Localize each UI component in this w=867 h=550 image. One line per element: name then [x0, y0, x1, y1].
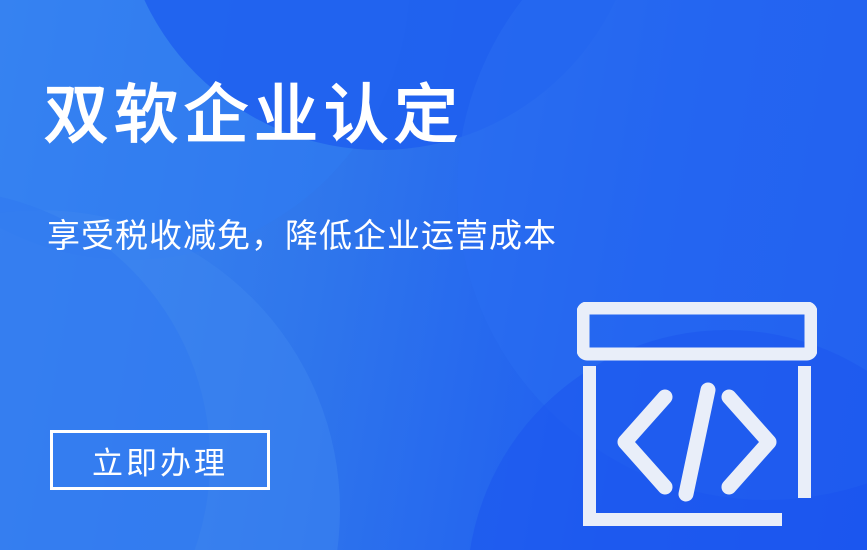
banner-subtitle: 享受税收减免，降低企业运营成本	[47, 216, 557, 256]
code-window-icon	[577, 302, 817, 532]
promo-banner: 双软企业认定 享受税收减免，降低企业运营成本 立即办理	[0, 0, 867, 550]
banner-title: 双软企业认定	[44, 80, 464, 150]
banner-content: 双软企业认定 享受税收减免，降低企业运营成本 立即办理	[0, 0, 867, 550]
apply-now-button[interactable]: 立即办理	[50, 430, 270, 490]
